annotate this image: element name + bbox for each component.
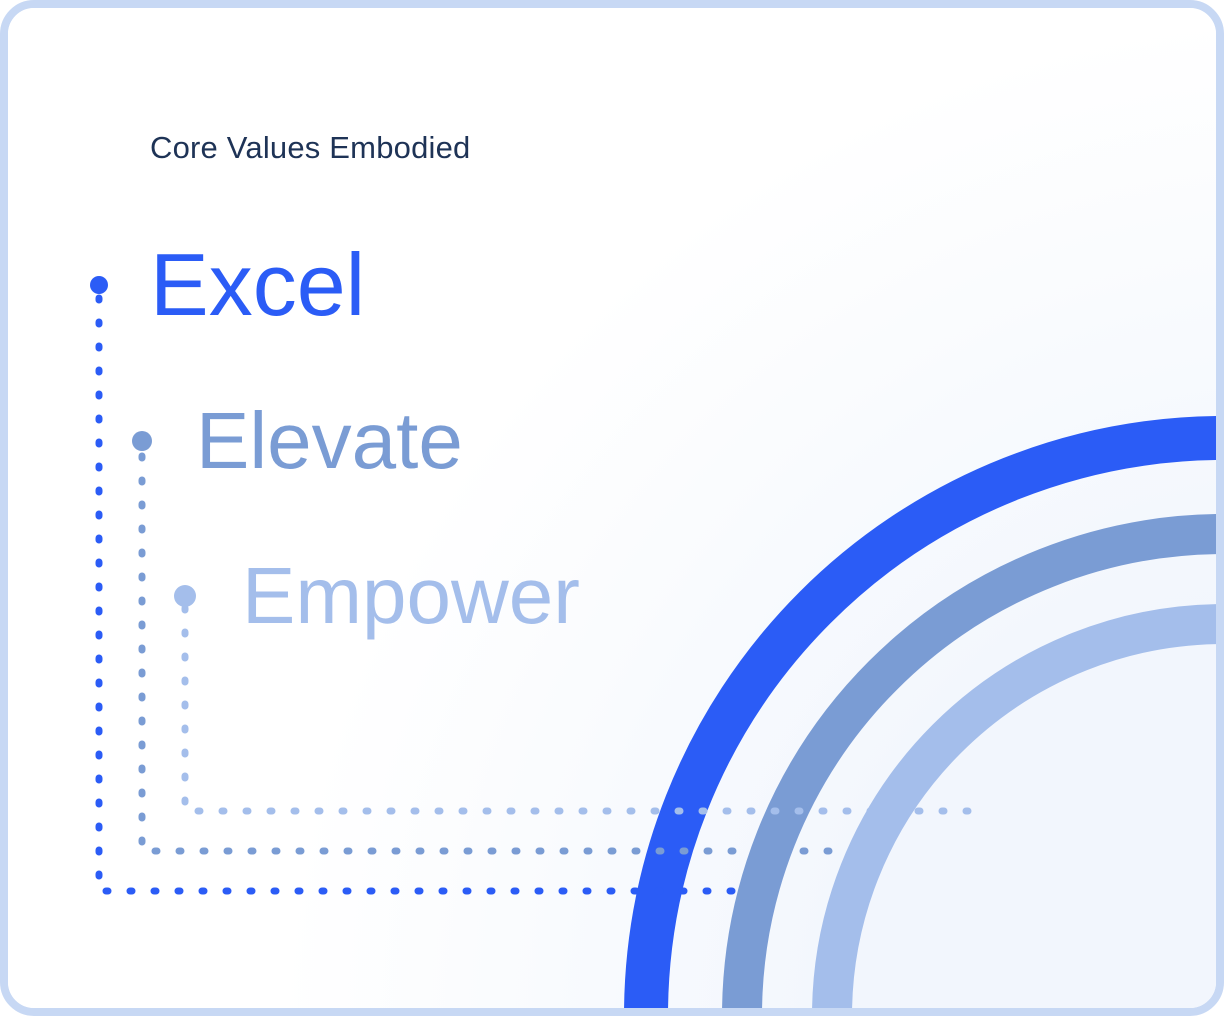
value-item-excel[interactable]: Excel — [90, 241, 365, 329]
value-item-elevate[interactable]: Elevate — [132, 401, 463, 481]
slide-canvas: Core Values Embodied Excel Elevate Empow… — [0, 0, 1224, 1016]
card-surface: Core Values Embodied Excel Elevate Empow… — [8, 8, 1216, 1008]
concentric-arcs-decoration — [524, 316, 1216, 1008]
value-item-empower[interactable]: Empower — [174, 556, 580, 636]
arc-middle-icon — [742, 534, 1216, 1008]
value-label-elevate: Elevate — [196, 401, 463, 481]
connector-elevate — [142, 456, 846, 851]
bullet-dot-icon — [132, 431, 152, 451]
value-label-excel: Excel — [150, 241, 365, 329]
bullet-dot-icon — [90, 276, 108, 294]
value-label-empower: Empower — [242, 556, 580, 636]
page-title: Core Values Embodied — [150, 130, 471, 166]
bullet-dot-icon — [174, 585, 196, 607]
core-values-card: Core Values Embodied Excel Elevate Empow… — [0, 0, 1224, 1016]
arc-inner-icon — [832, 624, 1216, 1008]
arc-inner-fill — [852, 644, 1216, 1008]
arc-outer-icon — [646, 438, 1216, 1008]
